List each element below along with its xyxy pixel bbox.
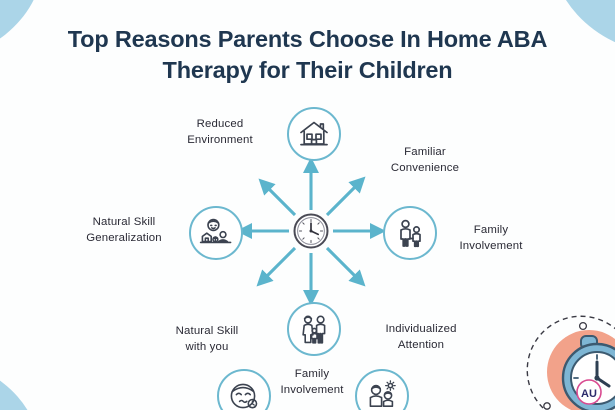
family-of-three-icon (298, 313, 330, 345)
label-familiar-convenience: Familiar Convenience (355, 145, 495, 176)
label-family-involvement-bottom-line1: Family (252, 367, 372, 383)
house-icon (298, 118, 330, 150)
badge-text: AU (581, 388, 597, 400)
label-natural-skill-with-you: Natural Skill with you (145, 324, 269, 355)
node-natural-skill-generalization[interactable] (189, 206, 243, 260)
label-natural-skill-with-you-line2: with you (145, 340, 269, 356)
title-line-1: Top Reasons Parents Choose In Home ABA (68, 26, 547, 52)
label-reduced-environment: Reduced Environment (150, 117, 290, 148)
page-title: Top Reasons Parents Choose In Home ABA T… (0, 24, 615, 86)
label-individualized-attention-line2: Attention (355, 338, 487, 354)
label-family-involvement-right-line2: Involvement (432, 239, 550, 255)
label-familiar-convenience-line1: Familiar (355, 145, 495, 161)
label-reduced-environment-line2: Environment (150, 133, 290, 149)
node-family-involvement-right[interactable] (383, 206, 437, 260)
label-natural-skill-with-you-line1: Natural Skill (145, 324, 269, 340)
child-with-toys-icon (198, 215, 234, 251)
label-family-involvement-right-line1: Family (432, 223, 550, 239)
label-family-involvement-bottom-line2: Involvement (252, 383, 372, 399)
node-family-involvement-bottom[interactable] (287, 302, 341, 356)
node-reduced-environment[interactable] (287, 107, 341, 161)
title-line-2: Therapy for Their Children (0, 55, 615, 86)
clock-icon (288, 208, 334, 254)
infographic-canvas: Top Reasons Parents Choose In Home ABA T… (0, 0, 615, 410)
parent-child-icon (394, 217, 426, 249)
label-natural-skill-generalization-line2: Generalization (60, 231, 188, 247)
hub-clock-node[interactable] (287, 207, 335, 255)
label-natural-skill-generalization-line1: Natural Skill (60, 215, 188, 231)
label-natural-skill-generalization: Natural Skill Generalization (60, 215, 188, 246)
label-reduced-environment-line1: Reduced (150, 117, 290, 133)
alarm-clock-logo-watermark: AU (523, 312, 615, 410)
label-individualized-attention-line1: Individualized (355, 322, 487, 338)
label-family-involvement-bottom: Family Involvement (252, 367, 372, 398)
label-individualized-attention: Individualized Attention (355, 322, 487, 353)
label-family-involvement-right: Family Involvement (432, 223, 550, 254)
label-familiar-convenience-line2: Convenience (355, 161, 495, 177)
